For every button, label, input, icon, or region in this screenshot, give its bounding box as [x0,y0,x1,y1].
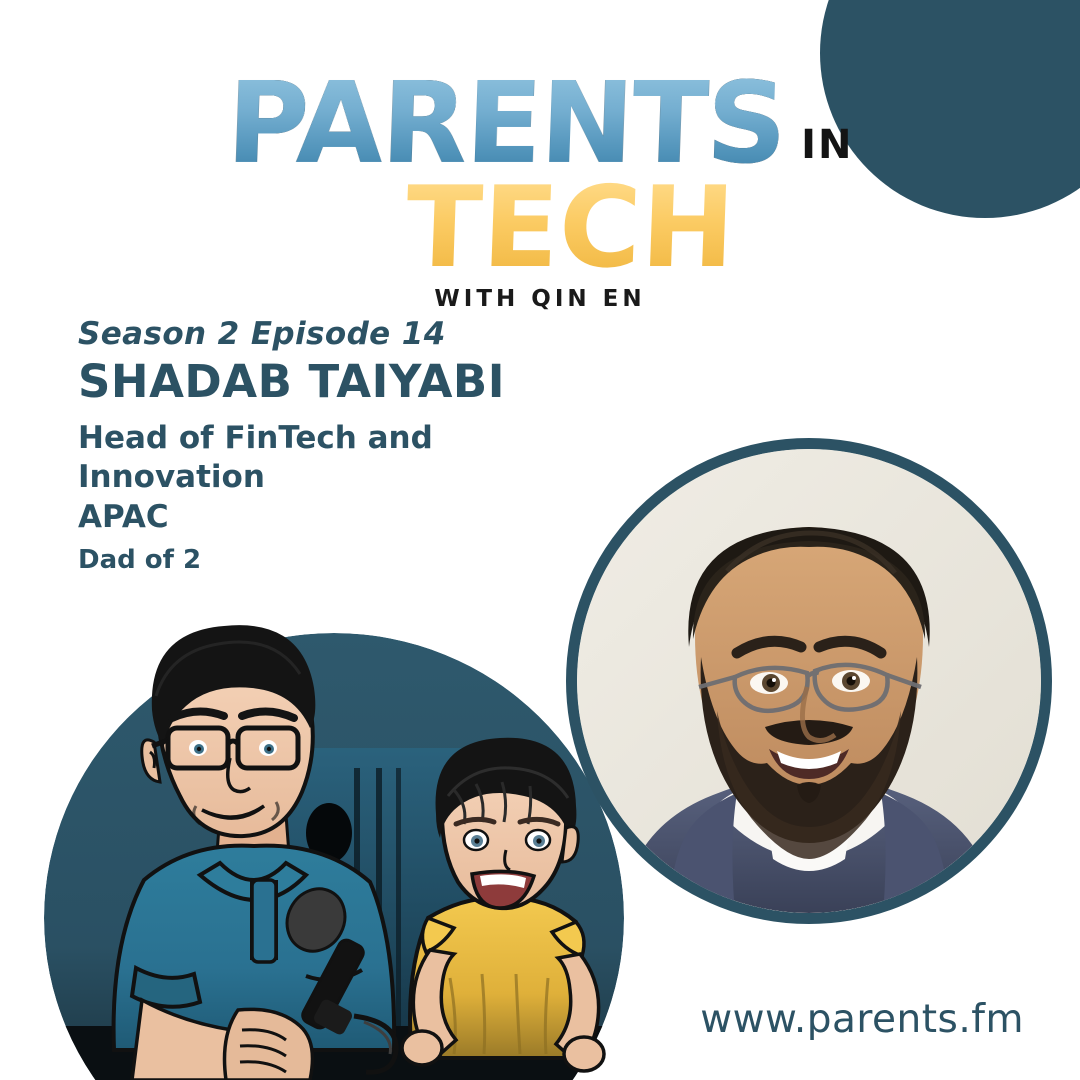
logo-word-in: IN [801,122,853,168]
guest-role: Head of FinTech and Innovation [78,419,468,498]
guest-region: APAC [78,498,598,538]
guest-photo [566,438,1052,924]
guest-name: SHADAB TAIYABI [78,358,598,407]
guest-parent-status: Dad of 2 [78,544,598,578]
website-url[interactable]: www.parents.fm [700,997,1024,1042]
podcast-cover-art: PARENTS PARENTS IN TECH TECH WITH QIN EN… [0,0,1080,1080]
logo-line-parents-in: PARENTS PARENTS IN [0,68,1080,178]
podcast-logo: PARENTS PARENTS IN TECH TECH WITH QIN EN [0,68,1080,312]
logo-word-tech-fill: TECH [404,172,737,284]
season-episode-label: Season 2 Episode 14 [78,316,598,352]
logo-word-tech: TECH TECH [406,172,735,284]
logo-line-tech: TECH TECH [0,172,1080,280]
episode-info-block: Season 2 Episode 14 SHADAB TAIYABI Head … [78,316,598,577]
